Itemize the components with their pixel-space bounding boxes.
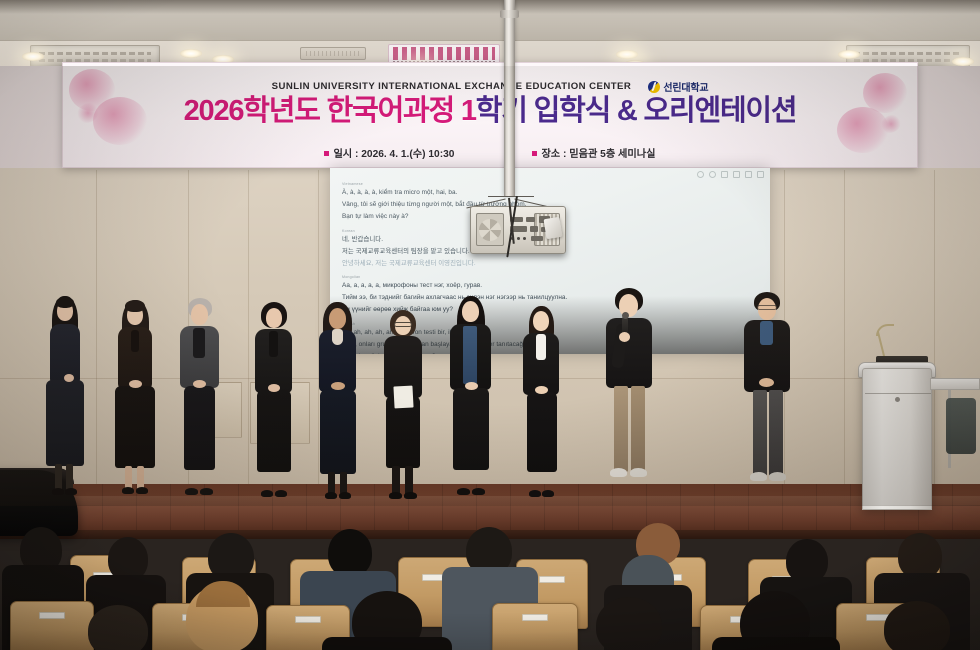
ceiling-sign-text [393,47,495,60]
ceiling-downlight [22,52,44,61]
audience-member-head [884,601,950,650]
seat-number-label [539,576,565,583]
ceiling-vent [300,47,366,60]
audience-area [0,505,980,650]
pole-collar [500,10,519,18]
audience-seat[interactable] [492,603,578,650]
ceiling-downlight [952,57,974,66]
seat-number-label [39,612,65,619]
audience-seat[interactable] [10,601,94,650]
ceiling-downlight [838,50,860,59]
audience-member-head [88,605,148,650]
auditorium-photo: SUNLIN UNIVERSITY INTERNATIONAL EXCHANGE… [0,0,980,650]
ceiling-downlight [616,50,638,59]
audience-member-body [712,637,840,650]
ceiling-shadow [0,0,980,14]
audience-member-head [328,529,372,577]
seat-number-label [295,616,321,623]
wall-vignette [0,66,980,506]
audience-member-head [596,597,662,650]
seat-number-label [522,614,548,621]
audience-member-body [322,637,452,650]
ceiling-downlight [180,49,202,58]
